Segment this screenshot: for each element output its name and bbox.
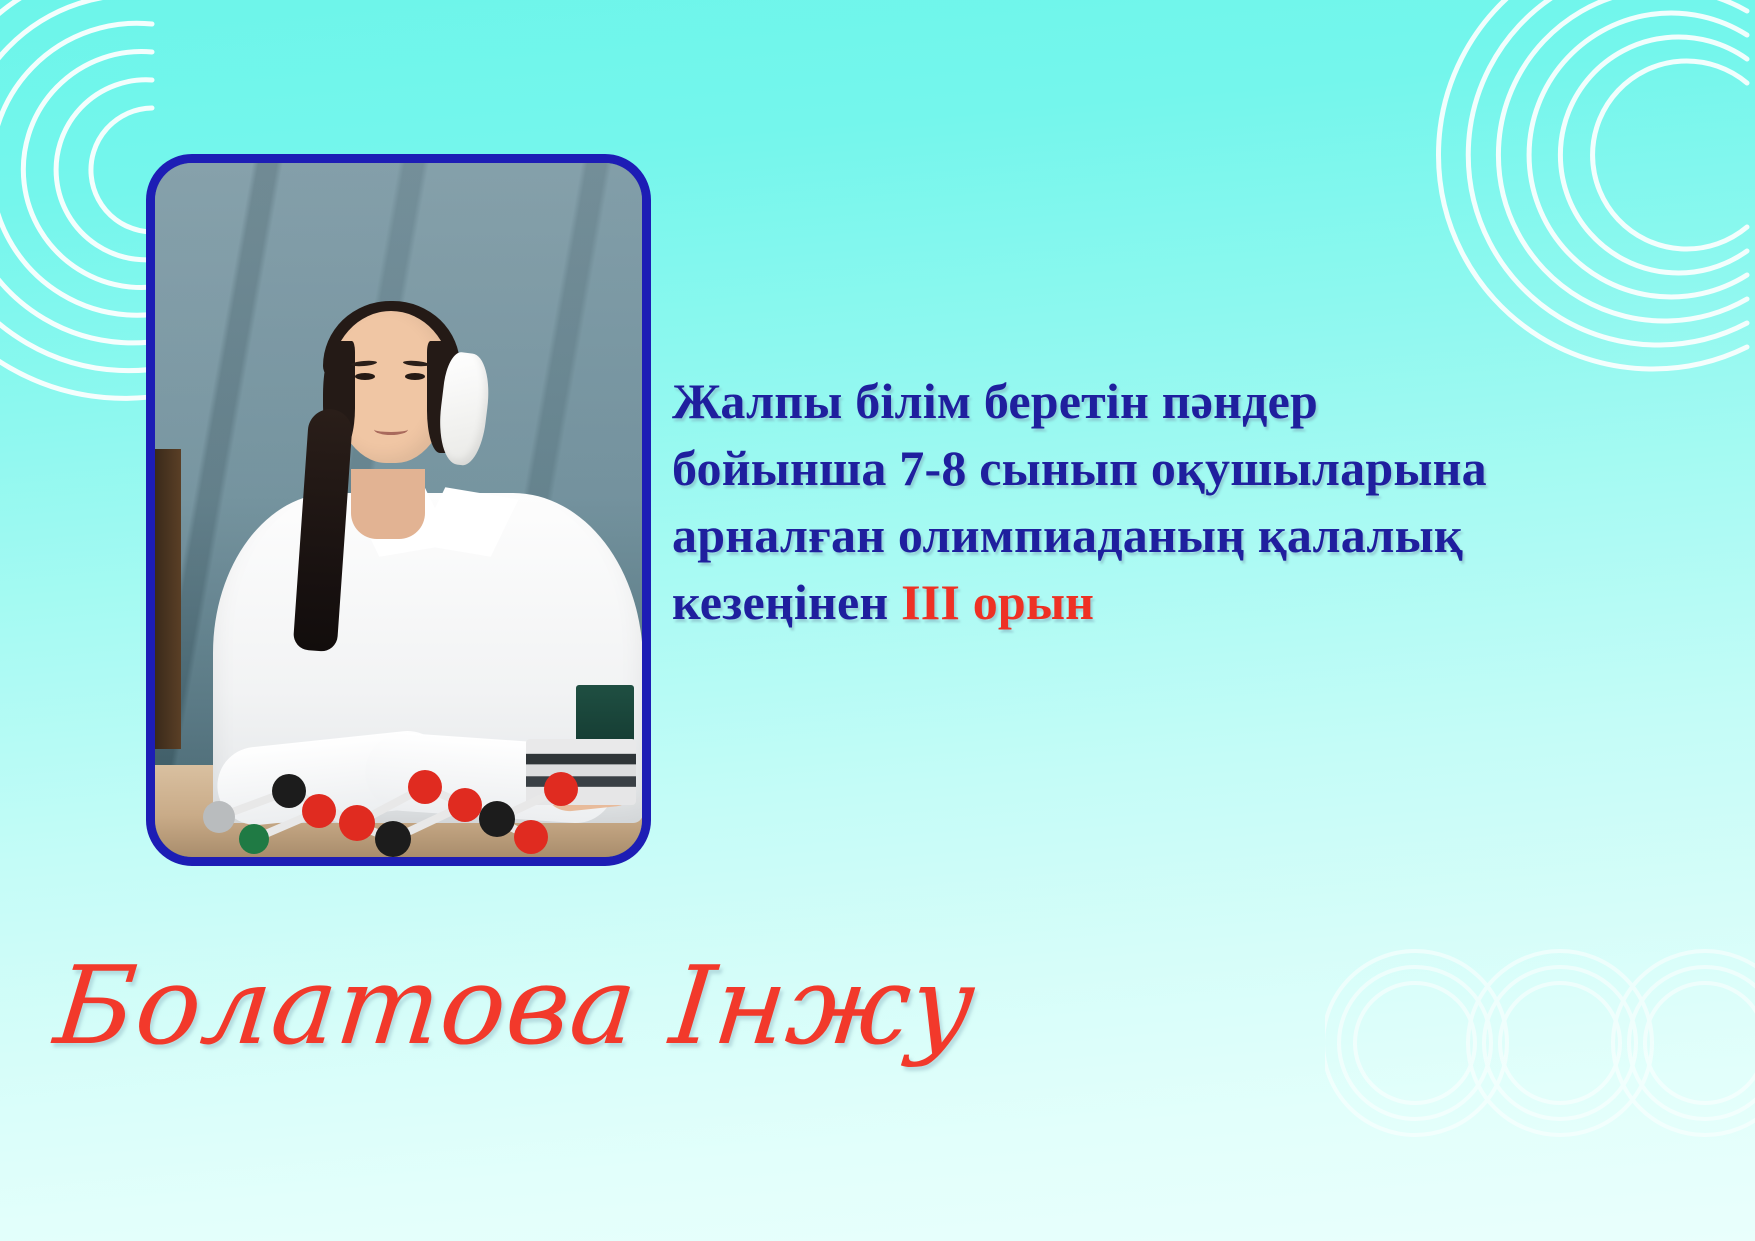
award-place-badge: III орын — [901, 574, 1094, 630]
photo-molecule-model — [179, 739, 599, 857]
student-photo — [155, 163, 642, 857]
headline-text: Жалпы білім беретін пәндер бойынша 7-8 с… — [672, 368, 1740, 636]
headline-line-1: Жалпы білім беретін пәндер — [672, 368, 1740, 435]
photo-collar-right — [418, 487, 519, 556]
student-photo-frame — [146, 154, 651, 866]
photo-mouth — [374, 424, 408, 435]
headline-line-4-prefix: кезеңінен — [672, 574, 901, 630]
photo-book-spine — [155, 449, 181, 749]
headline-line-3: арналған олимпиаданың қалалық — [672, 502, 1740, 569]
student-name-signature: Болатова Інжу — [49, 944, 962, 1069]
concentric-circles-decoration-bottom-right — [1325, 913, 1755, 1163]
photo-eye-left — [355, 373, 375, 380]
photo-neck — [351, 469, 425, 539]
headline-line-2: бойынша 7-8 сынып оқушыларына — [672, 435, 1740, 502]
award-slide: Жалпы білім беретін пәндер бойынша 7-8 с… — [0, 0, 1755, 1241]
photo-eye-right — [405, 373, 425, 380]
concentric-arcs-decoration-top-right — [1375, 0, 1755, 405]
headline-line-4: кезеңінен III орын — [672, 569, 1740, 636]
